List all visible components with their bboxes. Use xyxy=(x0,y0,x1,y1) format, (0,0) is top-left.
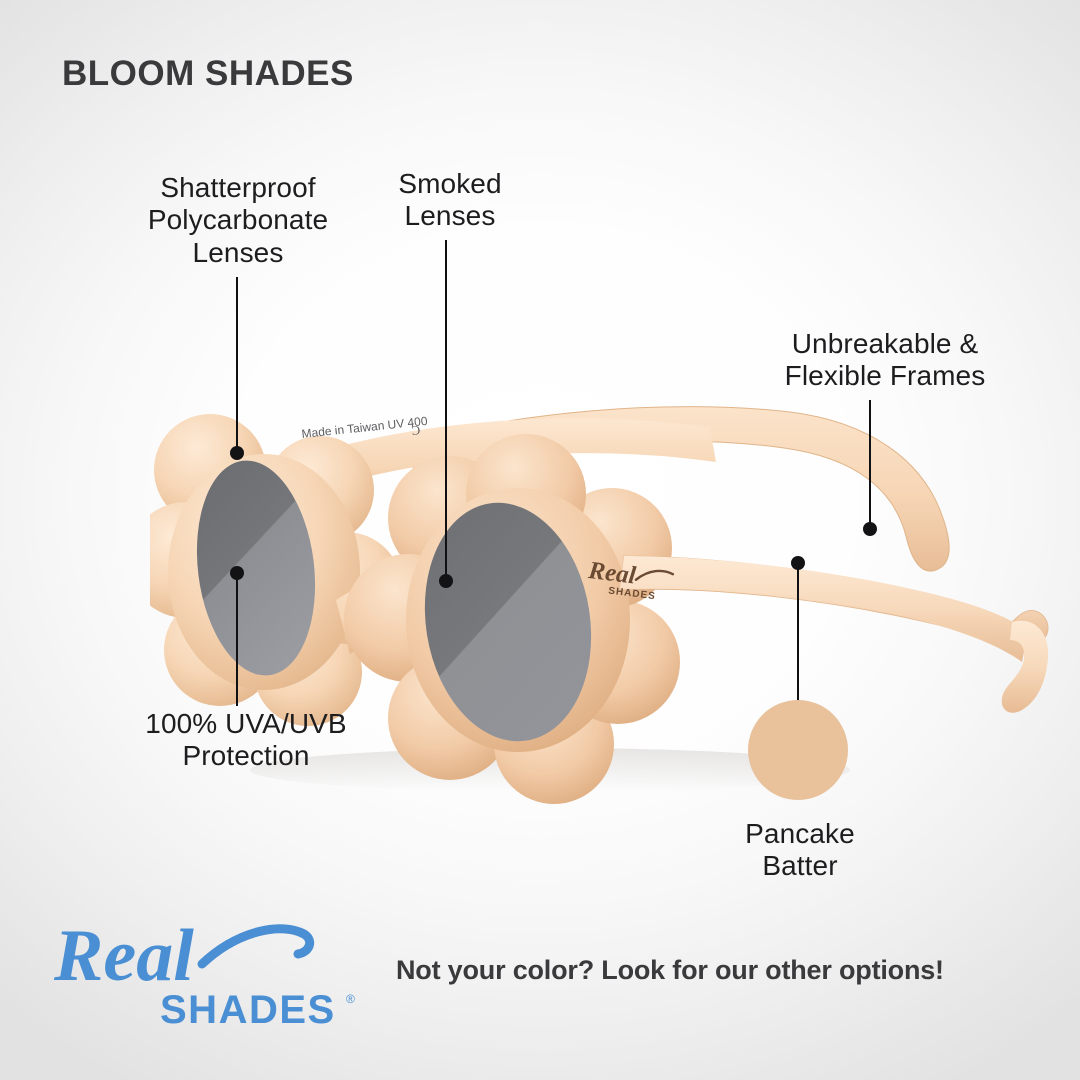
callout-unbreakable-frames: Unbreakable & Flexible Frames xyxy=(740,328,1030,393)
leader-line-uv xyxy=(236,572,238,706)
svg-text:SHADES: SHADES xyxy=(160,988,336,1032)
leader-dot-shatterproof xyxy=(230,446,244,460)
page-title: BLOOM SHADES xyxy=(62,54,354,94)
color-swatch-pancake-batter[interactable] xyxy=(748,700,848,800)
footer-tagline: Not your color? Look for our other optio… xyxy=(396,955,944,986)
leader-dot-unbreakable xyxy=(863,522,877,536)
callout-uv-protection: 100% UVA/UVB Protection xyxy=(96,708,396,773)
leader-line-swatch xyxy=(797,566,799,706)
infographic-canvas: BLOOM SHADES xyxy=(0,0,1080,1080)
leader-dot-uv xyxy=(230,566,244,580)
color-swatch-label: Pancake Batter xyxy=(680,818,920,883)
callout-smoked-lenses: Smoked Lenses xyxy=(330,168,570,233)
brand-logo-real-shades: Real SHADES ® xyxy=(52,908,362,1038)
svg-text:Real: Real xyxy=(53,915,194,997)
leader-line-smoked xyxy=(445,240,447,580)
leader-dot-smoked xyxy=(439,574,453,588)
leader-line-shatterproof xyxy=(236,277,238,452)
left-flower-frame xyxy=(150,414,402,726)
leader-line-unbreakable xyxy=(869,400,871,528)
svg-text:®: ® xyxy=(346,992,355,1006)
leader-dot-swatch xyxy=(791,556,805,570)
